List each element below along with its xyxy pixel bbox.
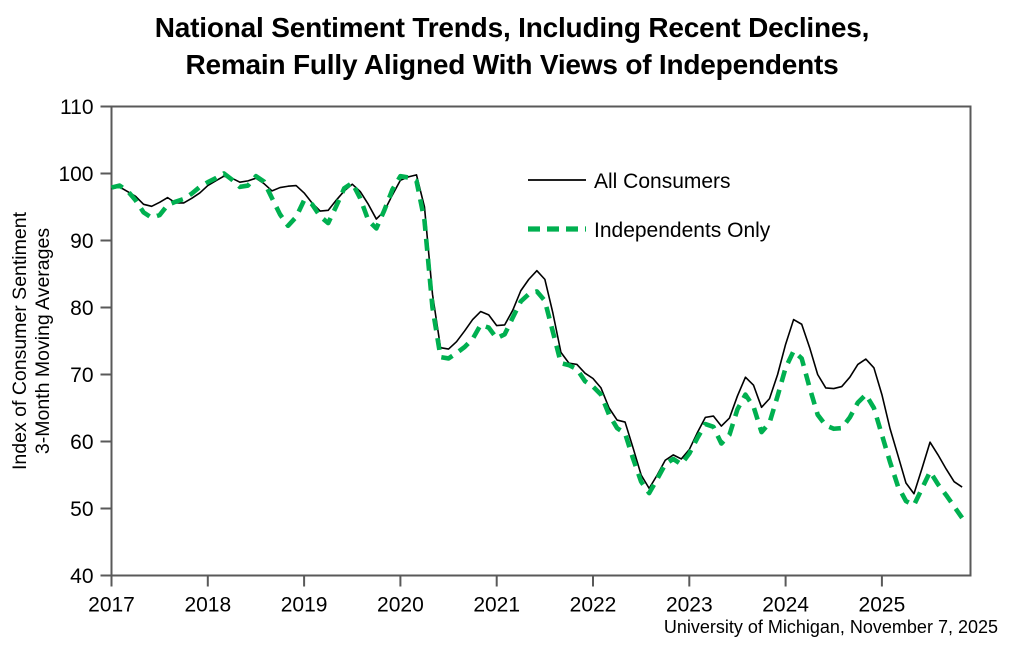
x-tick-label: 2025 bbox=[859, 594, 906, 617]
plot-frame bbox=[112, 107, 971, 576]
y-tick-label: 70 bbox=[70, 364, 93, 387]
data-series-layer bbox=[112, 174, 963, 518]
y-tick-label: 110 bbox=[60, 96, 93, 119]
y-tick-label: 80 bbox=[70, 297, 93, 320]
sentiment-line-chart: Index of Consumer Sentiment 3-Month Movi… bbox=[0, 0, 1024, 650]
y-tick-label: 90 bbox=[70, 230, 93, 253]
y-axis-title-line-1: Index of Consumer Sentiment bbox=[9, 211, 31, 470]
x-tick-label: 2022 bbox=[570, 594, 617, 617]
series-line-all-consumers bbox=[112, 175, 963, 494]
x-tick-label: 2019 bbox=[281, 594, 328, 617]
y-axis-ticks: 405060708090100110 bbox=[58, 96, 111, 588]
x-tick-label: 2017 bbox=[88, 594, 135, 617]
y-tick-label: 50 bbox=[70, 498, 93, 521]
y-tick-label: 40 bbox=[70, 565, 93, 588]
x-axis-ticks: 201720182019202020212022202320242025 bbox=[88, 576, 905, 617]
y-tick-label: 60 bbox=[70, 431, 93, 454]
chart-page: National Sentiment Trends, Including Rec… bbox=[0, 0, 1024, 650]
y-axis-title: Index of Consumer Sentiment 3-Month Movi… bbox=[9, 211, 54, 470]
plot-area-border bbox=[112, 107, 971, 576]
source-note: University of Michigan, November 7, 2025 bbox=[664, 617, 998, 638]
legend-label-all-consumers: All Consumers bbox=[594, 170, 731, 193]
x-tick-label: 2020 bbox=[377, 594, 424, 617]
x-tick-label: 2024 bbox=[762, 594, 809, 617]
legend-label-independents-only: Independents Only bbox=[594, 219, 771, 242]
y-tick-label: 100 bbox=[58, 163, 93, 186]
chart-legend: All ConsumersIndependents Only bbox=[528, 170, 771, 242]
y-axis-title-line-2: 3-Month Moving Averages bbox=[32, 228, 54, 454]
x-tick-label: 2021 bbox=[473, 594, 520, 617]
series-line-independents-only bbox=[112, 174, 963, 518]
x-tick-label: 2018 bbox=[184, 594, 231, 617]
x-tick-label: 2023 bbox=[666, 594, 713, 617]
